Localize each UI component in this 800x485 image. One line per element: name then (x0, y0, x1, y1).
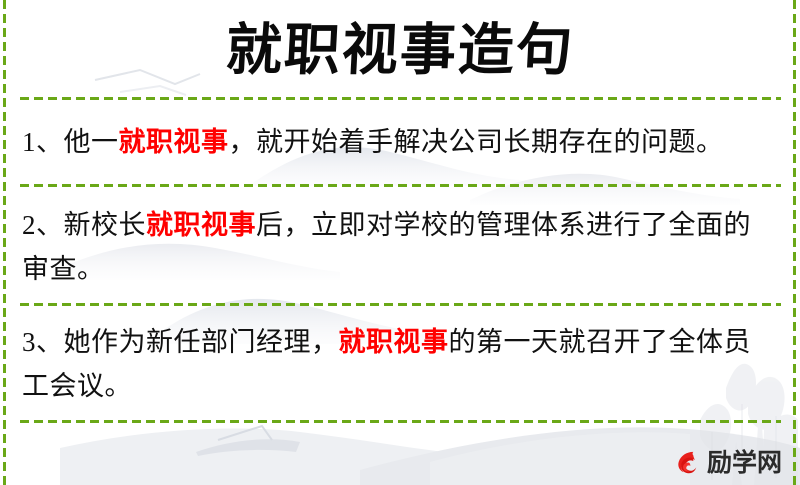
site-logo[interactable]: 励学网 (672, 446, 782, 480)
keyword-highlight-2: 就职视事 (146, 210, 256, 240)
sentence-item-3: 3、她作为新任部门经理，就职视事的第一天就召开了全体员工会议。 (22, 320, 770, 408)
red-swirl-flame-icon (672, 448, 703, 479)
frame-border-left (3, 0, 6, 485)
sentence-text-before-2: 新校长 (64, 210, 147, 240)
separator-line-2 (20, 184, 781, 187)
site-logo-text: 励学网 (707, 451, 782, 476)
sentence-item-2: 2、新校长就职视事后，立即对学校的管理体系进行了全面的审查。 (22, 203, 770, 291)
sentence-text-after-1: ，就开始着手解决公司长期存在的问题。 (229, 127, 724, 157)
separator-line-3 (20, 303, 781, 306)
sentence-text-before-1: 他一 (64, 127, 119, 157)
title-container: 就职视事造句 (0, 10, 800, 92)
keyword-highlight-1: 就职视事 (119, 127, 229, 157)
sentence-number-1: 1、 (22, 127, 64, 157)
sentence-number-3: 3、 (22, 327, 64, 357)
page-title: 就职视事造句 (225, 23, 576, 79)
frame-border-right (793, 0, 796, 485)
sentence-item-1: 1、他一就职视事，就开始着手解决公司长期存在的问题。 (22, 120, 770, 164)
separator-line-4 (20, 420, 781, 423)
slide-canvas: 就职视事造句 1、他一就职视事，就开始着手解决公司长期存在的问题。 2、新校长就… (0, 0, 800, 485)
separator-line-1 (20, 97, 781, 100)
sentence-number-2: 2、 (22, 210, 64, 240)
sentence-text-before-3: 她作为新任部门经理， (64, 327, 339, 357)
keyword-highlight-3: 就职视事 (339, 327, 449, 357)
